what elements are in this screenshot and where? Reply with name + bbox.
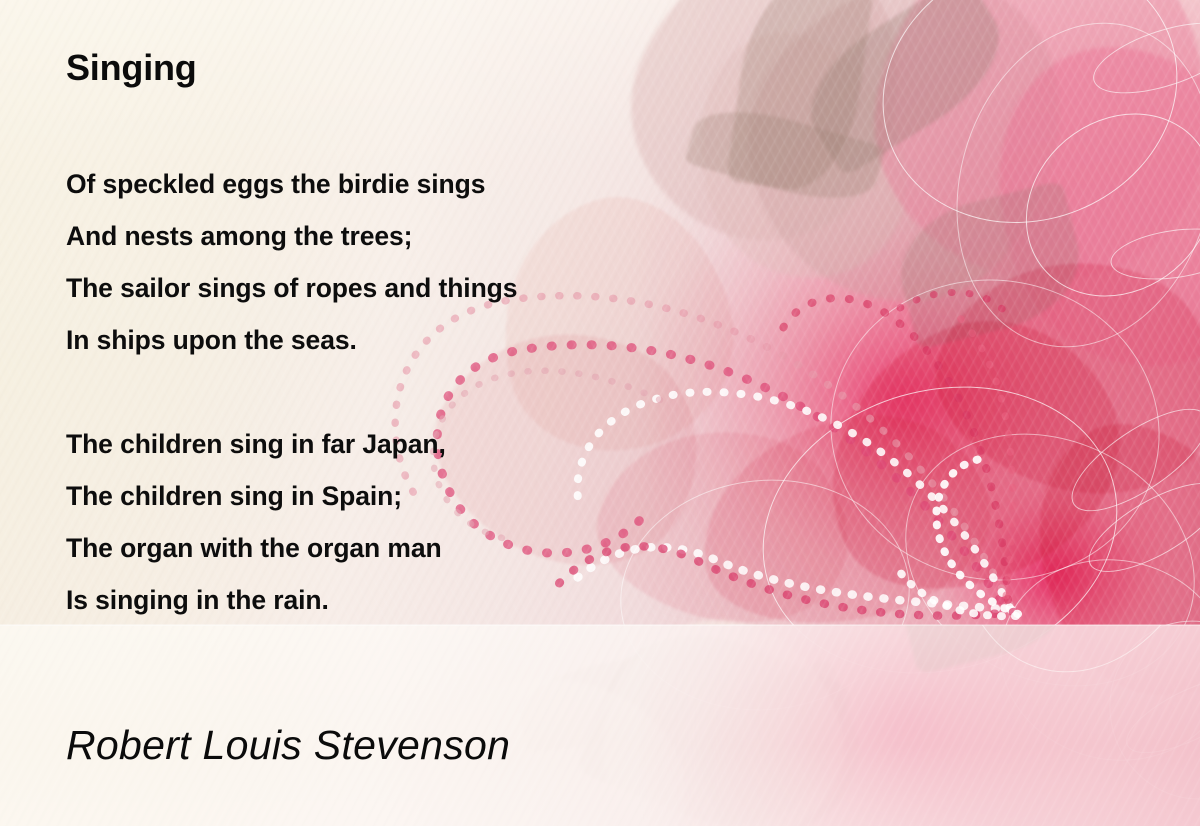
- poem-line: The children sing in Spain;: [66, 470, 786, 522]
- poem-body: Of speckled eggs the birdie sings And ne…: [66, 158, 786, 626]
- stanza-gap: [66, 366, 786, 418]
- poem-author: Robert Louis Stevenson: [66, 722, 510, 769]
- poem-poster: Singing Of speckled eggs the birdie sing…: [0, 0, 1200, 826]
- poem-line: Is singing in the rain.: [66, 574, 786, 626]
- poem-content: Singing Of speckled eggs the birdie sing…: [0, 0, 1200, 826]
- poem-line: In ships upon the seas.: [66, 314, 786, 366]
- poem-line: The organ with the organ man: [66, 522, 786, 574]
- poem-line: And nests among the trees;: [66, 210, 786, 262]
- poem-line: Of speckled eggs the birdie sings: [66, 158, 786, 210]
- poem-line: The sailor sings of ropes and things: [66, 262, 786, 314]
- poem-line: The children sing in far Japan,: [66, 418, 786, 470]
- poem-title: Singing: [66, 48, 197, 88]
